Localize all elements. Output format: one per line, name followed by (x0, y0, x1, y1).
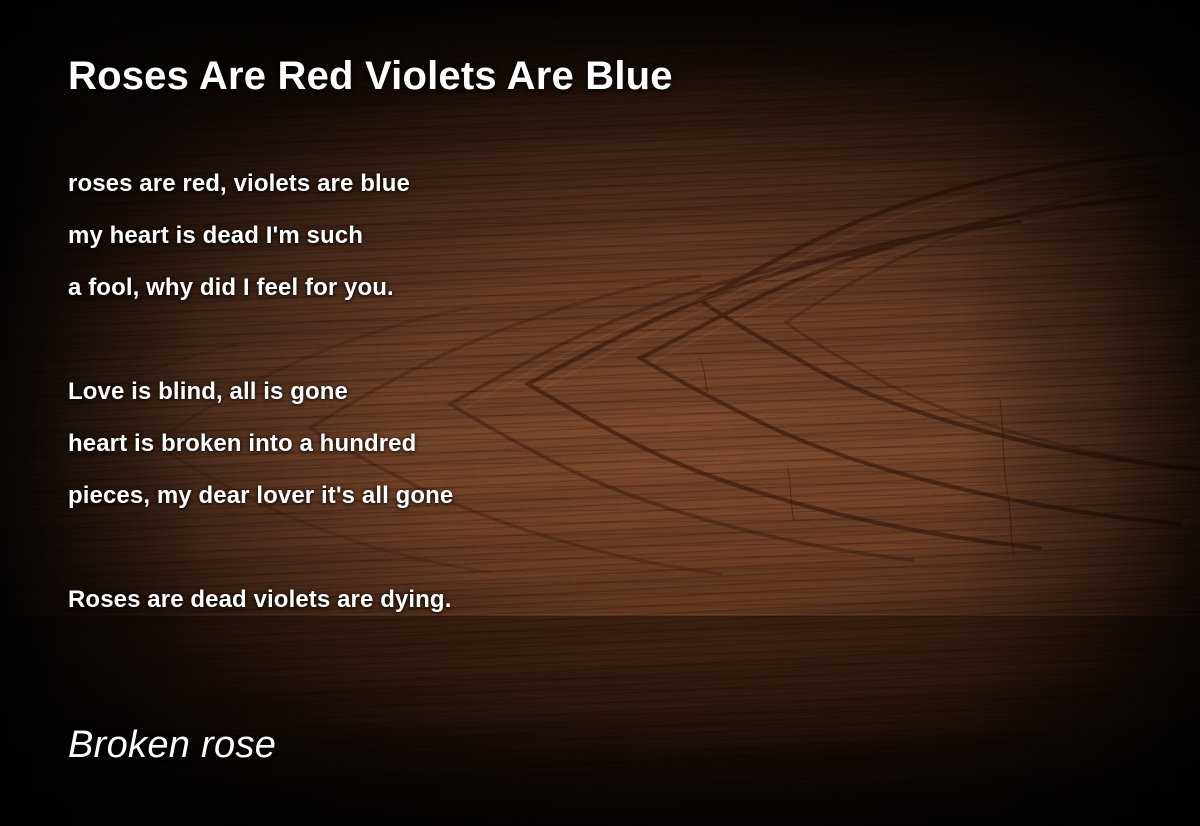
poem-line: Love is blind, all is gone (68, 366, 1068, 418)
poem-line: pieces, my dear lover it's all gone (68, 470, 1068, 522)
poem-line: Roses are dead violets are dying. (68, 574, 1068, 626)
poem-line: roses are red, violets are blue (68, 158, 1068, 210)
poem-stanza: roses are red, violets are blue my heart… (68, 158, 1068, 314)
poem-stanza: Roses are dead violets are dying. (68, 574, 1068, 626)
poem-stanza: Love is blind, all is gone heart is brok… (68, 366, 1068, 522)
poem-body: roses are red, violets are blue my heart… (68, 158, 1068, 626)
poem-line: my heart is dead I'm such (68, 210, 1068, 262)
poem-content: Roses Are Red Violets Are Blue roses are… (0, 0, 1200, 826)
poem-line: a fool, why did I feel for you. (68, 262, 1068, 314)
poem-title: Roses Are Red Violets Are Blue (68, 54, 673, 99)
poem-image: Roses Are Red Violets Are Blue roses are… (0, 0, 1200, 826)
poem-signature: Broken rose (68, 724, 276, 767)
poem-line: heart is broken into a hundred (68, 418, 1068, 470)
